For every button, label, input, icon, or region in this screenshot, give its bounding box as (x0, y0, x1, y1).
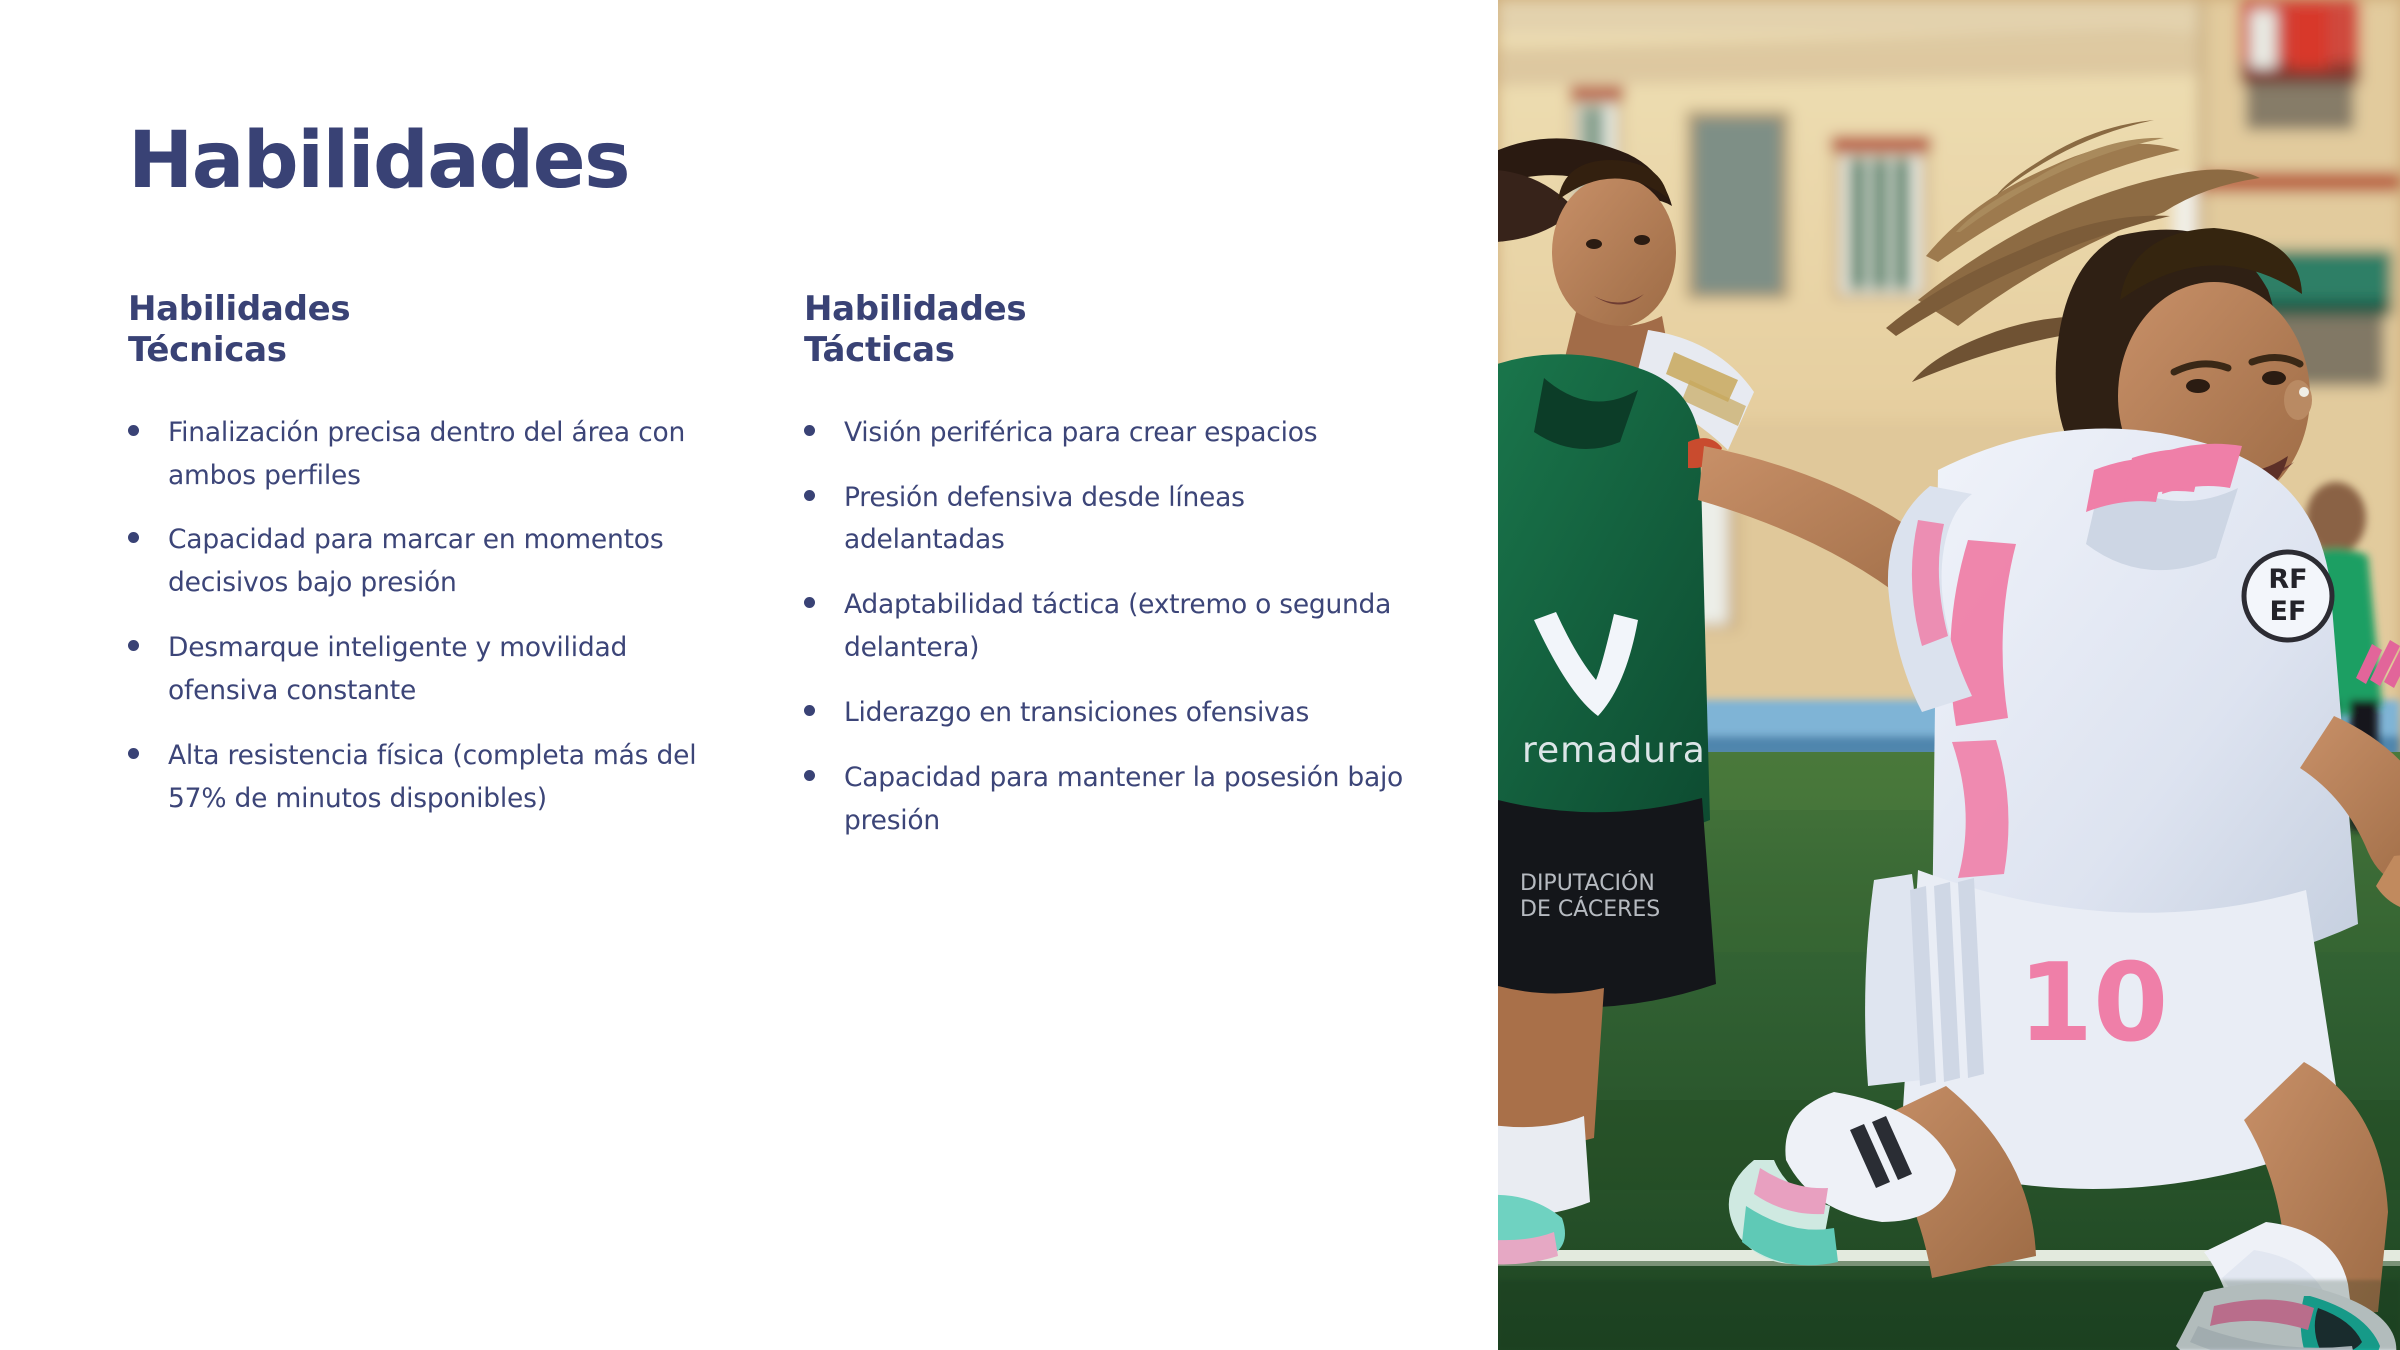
shorts-number: 10 (2018, 941, 2168, 1066)
badge-line-1: RF (2268, 564, 2307, 595)
list-item: Capacidad para mantener la posesión bajo… (804, 757, 1404, 843)
bullet-dot-icon (128, 412, 168, 436)
list-item: Desmarque inteligente y movilidad ofensi… (128, 627, 728, 713)
photo-illustration: remadura DIPUTACIÓN DE CÁCERES (1498, 0, 2400, 1350)
technical-bullet-list: Finalización precisa dentro del área con… (128, 412, 728, 821)
slide-root: Habilidades Habilidades Técnicas Finaliz… (0, 0, 2400, 1350)
bullet-text: Alta resistencia física (completa más de… (168, 735, 728, 821)
list-item: Adaptabilidad táctica (extremo o segunda… (804, 584, 1404, 670)
list-item: Liderazgo en transiciones ofensivas (804, 692, 1404, 735)
tactical-bullet-list: Visión periférica para crear espacios Pr… (804, 412, 1404, 843)
shorts-text: DIPUTACIÓN (1520, 870, 1655, 896)
column-technical-heading: Habilidades Técnicas (128, 289, 728, 372)
skills-columns: Habilidades Técnicas Finalización precis… (128, 289, 1498, 865)
bullet-text: Capacidad para mantener la posesión bajo… (844, 757, 1404, 843)
sponsor-text: remadura (1522, 730, 1706, 771)
list-item: Visión periférica para crear espacios (804, 412, 1404, 455)
bullet-dot-icon (128, 519, 168, 543)
bullet-text: Liderazgo en transiciones ofensivas (844, 692, 1404, 735)
shorts-text-2: DE CÁCERES (1520, 896, 1660, 922)
badge-line-2: EF (2270, 596, 2307, 627)
column-tactical-heading: Habilidades Tácticas (804, 289, 1404, 372)
bullet-dot-icon (128, 627, 168, 651)
content-area: Habilidades Habilidades Técnicas Finaliz… (0, 0, 1498, 1350)
list-item: Finalización precisa dentro del área con… (128, 412, 728, 498)
depth-of-field-overlay (1498, 1280, 2400, 1350)
bullet-dot-icon (804, 477, 844, 501)
column-tactical-skills: Habilidades Tácticas Visión periférica p… (804, 289, 1404, 865)
bullet-dot-icon (804, 584, 844, 608)
bullet-dot-icon (128, 735, 168, 759)
football-match-photo: remadura DIPUTACIÓN DE CÁCERES (1498, 0, 2400, 1350)
bullet-text: Finalización precisa dentro del área con… (168, 412, 728, 498)
column-technical-skills: Habilidades Técnicas Finalización precis… (128, 289, 728, 865)
list-item: Capacidad para marcar en momentos decisi… (128, 519, 728, 605)
bullet-text: Adaptabilidad táctica (extremo o segunda… (844, 584, 1404, 670)
rfef-badge: RF EF (2244, 552, 2332, 640)
bullet-text: Desmarque inteligente y movilidad ofensi… (168, 627, 728, 713)
bullet-text: Presión defensiva desde líneas adelantad… (844, 477, 1404, 563)
bullet-dot-icon (804, 412, 844, 436)
page-title: Habilidades (128, 120, 1498, 203)
bullet-text: Capacidad para marcar en momentos decisi… (168, 519, 728, 605)
list-item: Presión defensiva desde líneas adelantad… (804, 477, 1404, 563)
bullet-dot-icon (804, 757, 844, 781)
bullet-text: Visión periférica para crear espacios (844, 412, 1404, 455)
list-item: Alta resistencia física (completa más de… (128, 735, 728, 821)
bullet-dot-icon (804, 692, 844, 716)
